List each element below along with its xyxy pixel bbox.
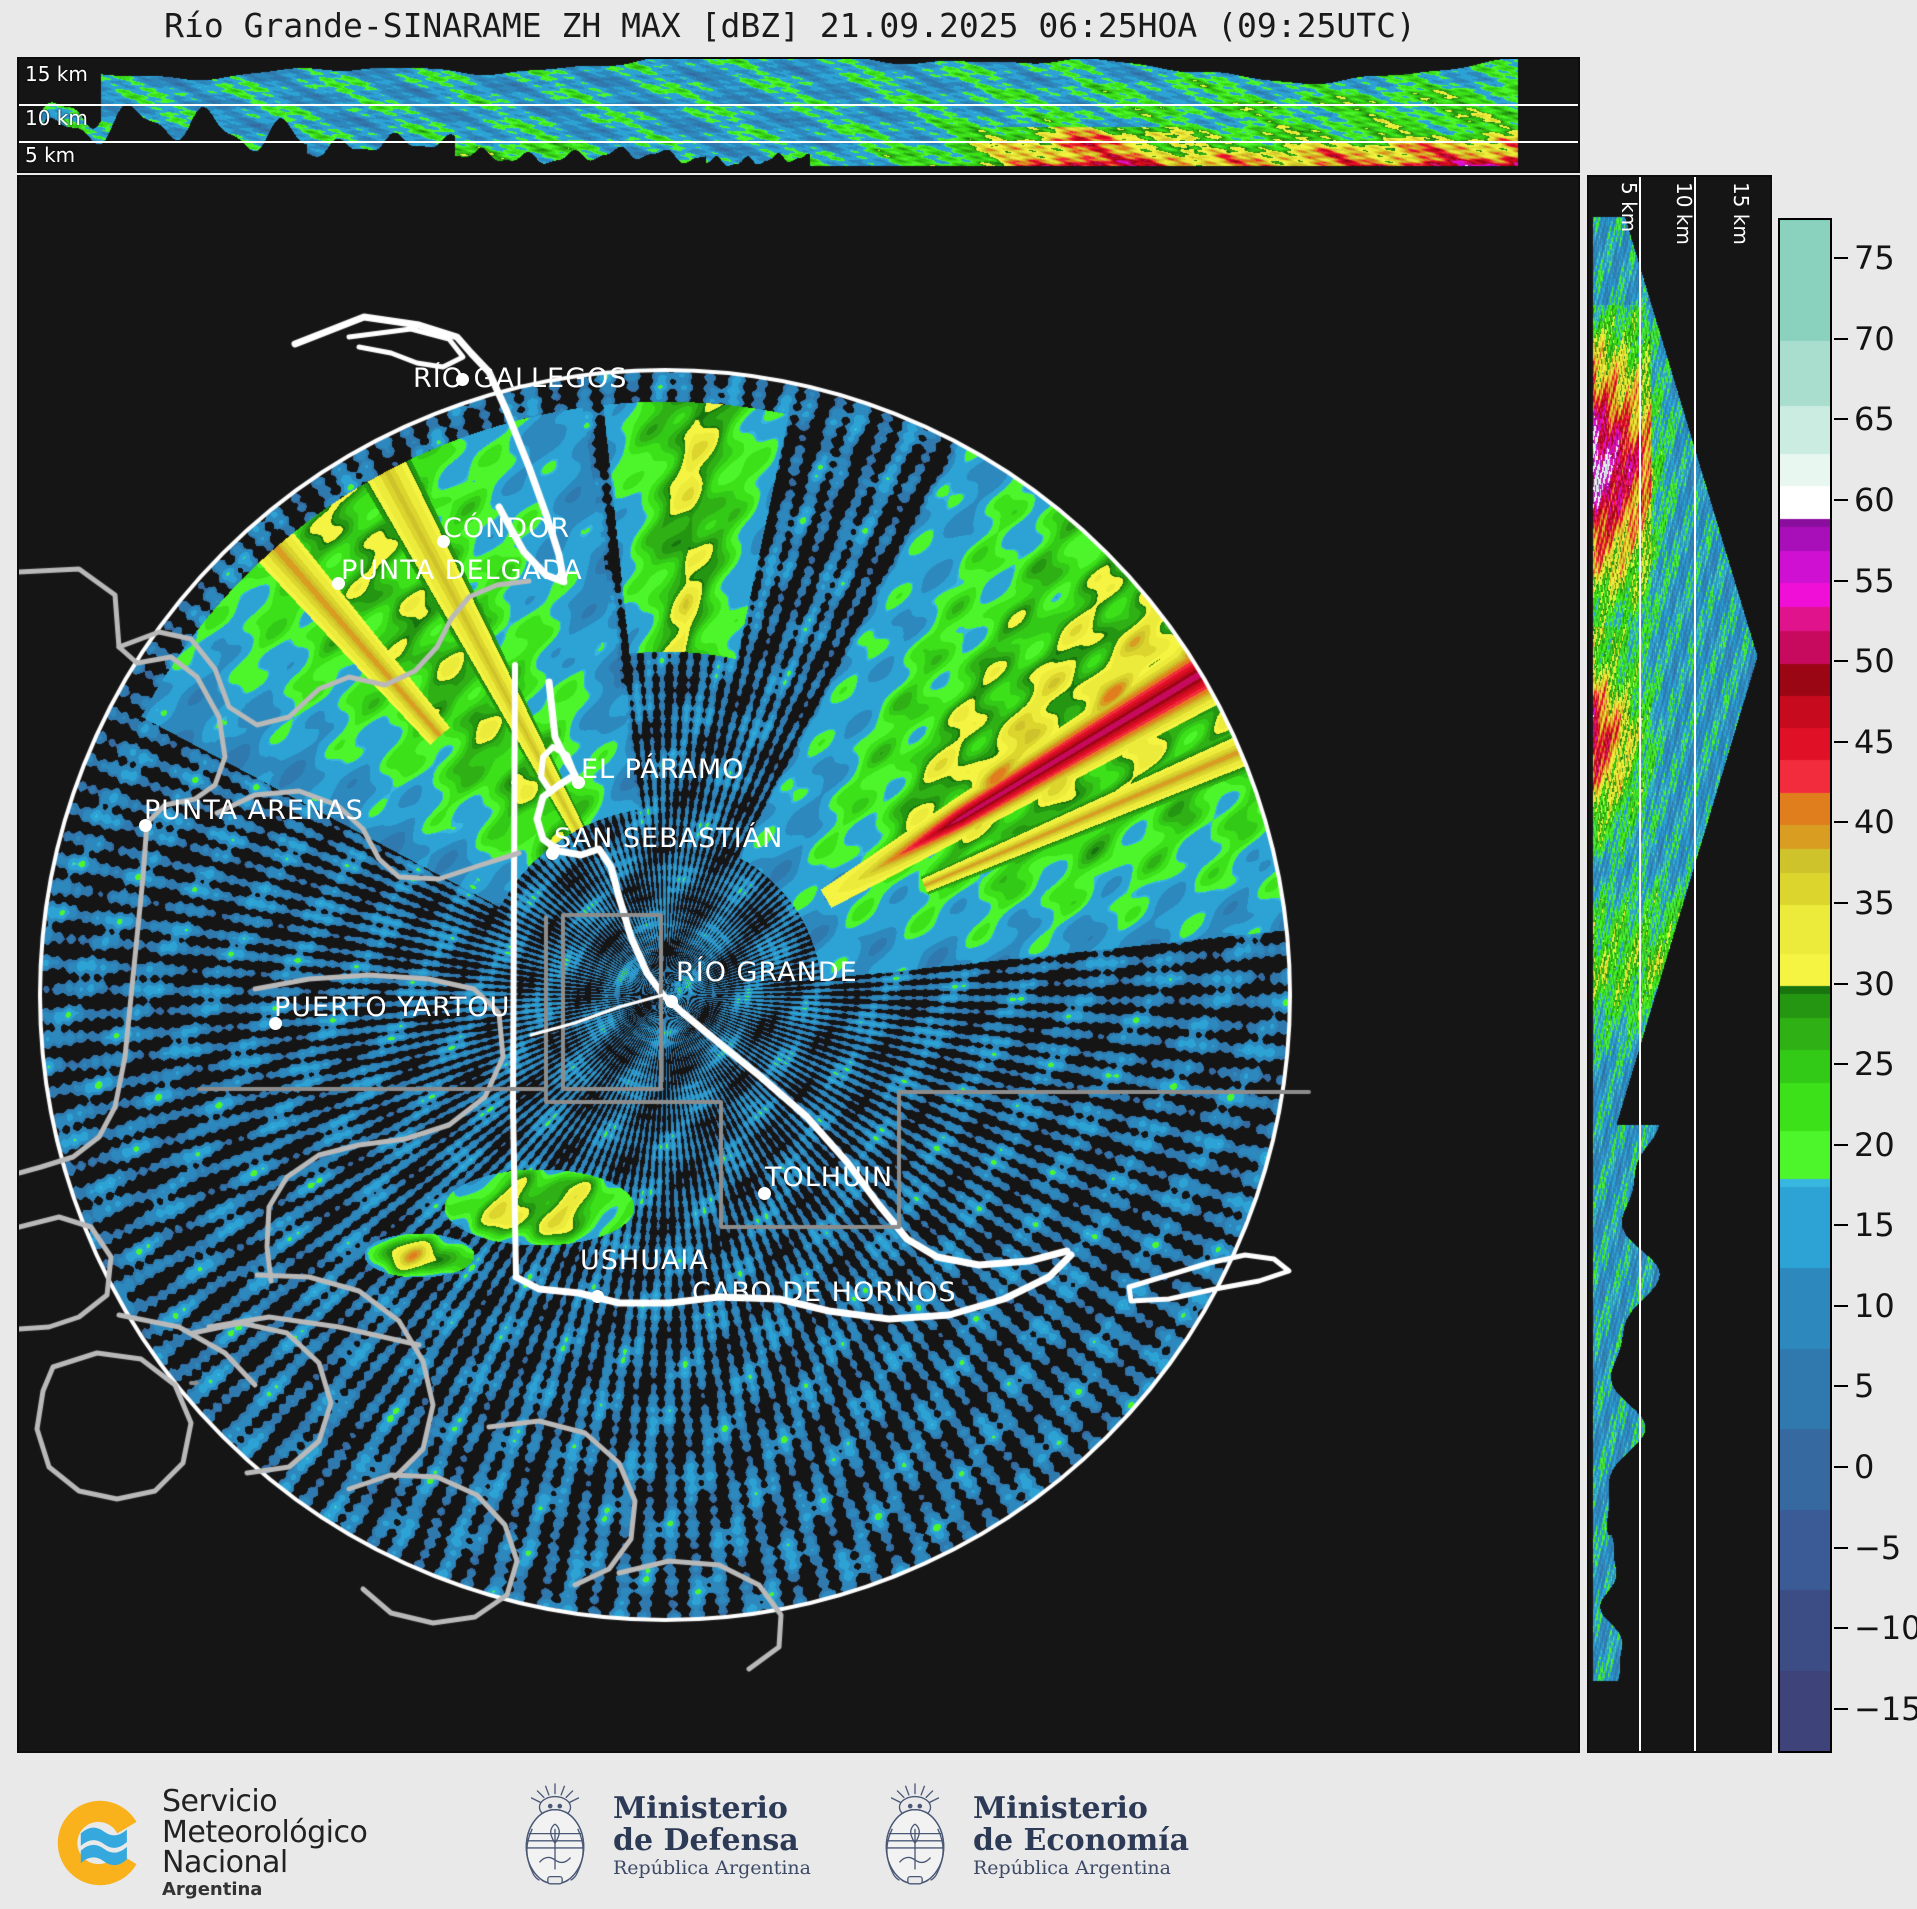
colorbar-tick-mark bbox=[1834, 1224, 1848, 1226]
colorbar-tick-mark bbox=[1834, 983, 1848, 985]
colorbar-tick-label-35: 35 bbox=[1854, 884, 1895, 922]
colorbar-tick-label-25: 25 bbox=[1854, 1045, 1895, 1083]
colorbar-tick-mark bbox=[1834, 1063, 1848, 1065]
place-dot-ushuaia bbox=[591, 1290, 604, 1303]
place-dot-san-sebasti-n bbox=[546, 847, 559, 860]
colorbar-tick-mark bbox=[1834, 418, 1848, 420]
colorbar-tick-label-30: 30 bbox=[1854, 965, 1895, 1003]
colorbar-tick-label-10: 10 bbox=[1854, 1287, 1895, 1325]
top-label-15km: 15 km bbox=[25, 62, 88, 86]
colorbar-tick-label-55: 55 bbox=[1854, 562, 1895, 600]
smn-logo-text: Servicio Meteorológico Nacional Argentin… bbox=[162, 1787, 367, 1899]
economia-line-1: Ministerio bbox=[973, 1793, 1189, 1825]
radar-plan-view-canvas[interactable] bbox=[19, 177, 1578, 1751]
colorbar-tick-label--15: −15 bbox=[1854, 1690, 1917, 1728]
smn-line-4: Argentina bbox=[162, 1881, 367, 1899]
colorbar-tick-label-45: 45 bbox=[1854, 723, 1895, 761]
top-cross-section-panel: 15 km 10 km 5 km bbox=[17, 57, 1580, 173]
top-height-line-10km bbox=[19, 104, 1578, 106]
logo-ministerio-de-defensa: Ministerio de Defensa República Argentin… bbox=[513, 1781, 811, 1891]
colorbar-tick-mark bbox=[1834, 338, 1848, 340]
place-dot-el-p-ramo bbox=[572, 776, 585, 789]
place-dot-puerto-yartou bbox=[269, 1017, 282, 1030]
colorbar-tick-label-60: 60 bbox=[1854, 481, 1895, 519]
radar-plan-view-panel[interactable]: RÍO GALLEGOSCÓNDORPUNTA DELGADAEL PÁRAMO… bbox=[17, 175, 1580, 1753]
right-label-10km: 10 km bbox=[1672, 182, 1696, 245]
colorbar-tick-mark bbox=[1834, 1305, 1848, 1307]
top-height-line-5km bbox=[19, 141, 1578, 143]
colorbar-tick-mark bbox=[1834, 902, 1848, 904]
top-label-5km: 5 km bbox=[25, 143, 75, 167]
colorbar-tick-mark bbox=[1834, 741, 1848, 743]
economia-line-3: República Argentina bbox=[973, 1859, 1189, 1879]
smn-logo-icon bbox=[52, 1795, 148, 1891]
colorbar-tick-mark bbox=[1834, 821, 1848, 823]
colorbar-tick-mark bbox=[1834, 1708, 1848, 1710]
place-dot-punta-delgada bbox=[332, 577, 345, 590]
colorbar-tick-label--5: −5 bbox=[1854, 1529, 1901, 1567]
colorbar-gradient bbox=[1778, 218, 1832, 1753]
smn-line-2: Meteorológico bbox=[162, 1818, 367, 1849]
colorbar-tick-label-65: 65 bbox=[1854, 400, 1895, 438]
smn-line-1: Servicio bbox=[162, 1787, 367, 1818]
colorbar-tick-mark bbox=[1834, 1547, 1848, 1549]
ministerio-defensa-text: Ministerio de Defensa República Argentin… bbox=[613, 1793, 811, 1879]
colorbar-tick-label-5: 5 bbox=[1854, 1367, 1874, 1405]
place-dot-c-ndor bbox=[437, 535, 450, 548]
defensa-line-2: de Defensa bbox=[613, 1825, 811, 1857]
colorbar-tick-mark bbox=[1834, 257, 1848, 259]
colorbar-tick-mark bbox=[1834, 499, 1848, 501]
top-label-10km: 10 km bbox=[25, 106, 88, 130]
escudo-nacional-icon bbox=[513, 1781, 597, 1891]
right-height-line-10km bbox=[1694, 177, 1696, 1751]
colorbar-tick-mark bbox=[1834, 1466, 1848, 1468]
logo-ministerio-de-economia: Ministerio de Economía República Argenti… bbox=[873, 1781, 1189, 1891]
colorbar-tick-mark bbox=[1834, 660, 1848, 662]
colorbar-tick-label-0: 0 bbox=[1854, 1448, 1874, 1486]
colorbar-tick-label-70: 70 bbox=[1854, 320, 1895, 358]
place-dot-punta-arenas bbox=[139, 819, 152, 832]
place-dot-tolhuin bbox=[758, 1187, 771, 1200]
smn-line-3: Nacional bbox=[162, 1848, 367, 1879]
place-dot-r-o-gallegos bbox=[456, 373, 469, 386]
right-cross-section-canvas bbox=[1589, 177, 1770, 1751]
colorbar-tick-mark bbox=[1834, 1144, 1848, 1146]
colorbar-tick-mark bbox=[1834, 1385, 1848, 1387]
economia-line-2: de Economía bbox=[973, 1825, 1189, 1857]
colorbar-tick-label-15: 15 bbox=[1854, 1206, 1895, 1244]
ministerio-economia-text: Ministerio de Economía República Argenti… bbox=[973, 1793, 1189, 1879]
colorbar-tick-label-75: 75 bbox=[1854, 239, 1895, 277]
page-title: Río Grande-SINARAME ZH MAX [dBZ] 21.09.2… bbox=[0, 6, 1580, 45]
place-dot-r-o-grande bbox=[665, 995, 678, 1008]
right-cross-section-panel: 5 km 10 km 15 km bbox=[1587, 175, 1772, 1753]
top-cross-section-canvas bbox=[19, 59, 1578, 171]
right-label-5km: 5 km bbox=[1617, 182, 1641, 232]
colorbar-tick-label-40: 40 bbox=[1854, 803, 1895, 841]
colorbar-tick-label-20: 20 bbox=[1854, 1126, 1895, 1164]
colorbar: −15−10−5051015202530354045505560657075 bbox=[1778, 218, 1832, 1753]
right-height-line-5km bbox=[1639, 177, 1641, 1751]
colorbar-tick-mark bbox=[1834, 580, 1848, 582]
logo-servicio-meteorologico-nacional: Servicio Meteorológico Nacional Argentin… bbox=[52, 1787, 367, 1899]
right-label-15km: 15 km bbox=[1729, 182, 1753, 245]
colorbar-tick-label--10: −10 bbox=[1854, 1609, 1917, 1647]
defensa-line-1: Ministerio bbox=[613, 1793, 811, 1825]
colorbar-tick-mark bbox=[1834, 1627, 1848, 1629]
colorbar-ticks: −15−10−5051015202530354045505560657075 bbox=[1834, 218, 1917, 1753]
footer: Servicio Meteorológico Nacional Argentin… bbox=[0, 1765, 1917, 1909]
escudo-nacional-icon bbox=[873, 1781, 957, 1891]
colorbar-tick-label-50: 50 bbox=[1854, 642, 1895, 680]
defensa-line-3: República Argentina bbox=[613, 1859, 811, 1879]
